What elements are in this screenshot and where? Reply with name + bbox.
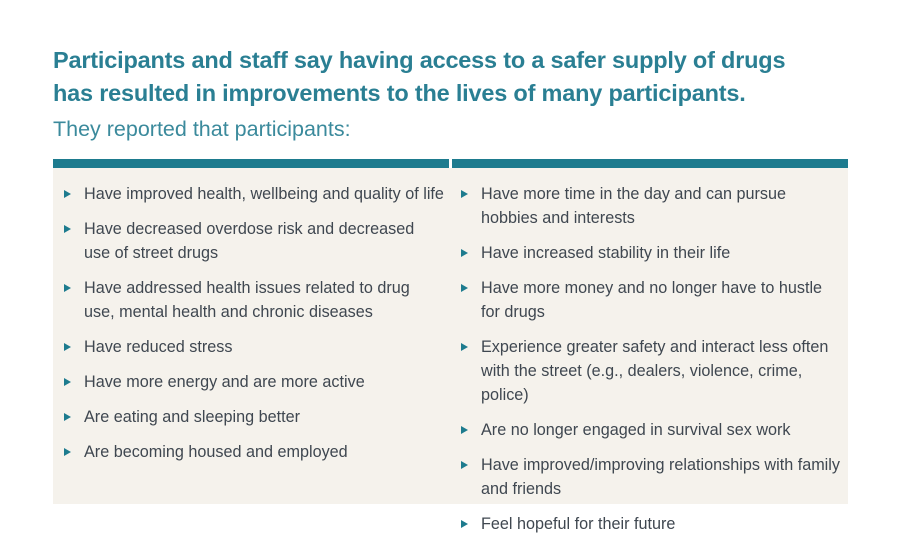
list-item-label: Are becoming housed and employed [84, 443, 348, 461]
triangle-bullet-icon [461, 520, 468, 528]
triangle-bullet-icon [461, 461, 468, 469]
list-item-label: Experience greater safety and interact l… [481, 338, 828, 404]
rule-right-column [452, 159, 848, 168]
list-item-label: Have improved/improving relationships wi… [481, 456, 840, 498]
list-item-label: Feel hopeful for their future [481, 515, 675, 533]
list-item-label: Have addressed health issues related to … [84, 279, 410, 321]
heading-block: Participants and staff say having access… [53, 44, 853, 144]
list-item-label: Are no longer engaged in survival sex wo… [481, 421, 791, 439]
triangle-bullet-icon [461, 190, 468, 198]
list-item: Have improved/improving relationships wi… [461, 453, 842, 501]
triangle-bullet-icon [461, 284, 468, 292]
triangle-bullet-icon [64, 413, 71, 421]
triangle-bullet-icon [64, 225, 71, 233]
right-column: Have more time in the day and can pursue… [452, 168, 848, 504]
column-header-rules [53, 159, 848, 168]
page-title-line-2: has resulted in improvements to the live… [53, 77, 853, 110]
list-item-label: Have increased stability in their life [481, 244, 730, 262]
triangle-bullet-icon [64, 190, 71, 198]
list-item-label: Have more money and no longer have to hu… [481, 279, 822, 321]
triangle-bullet-icon [64, 284, 71, 292]
list-item: Have decreased overdose risk and decreas… [64, 217, 444, 265]
left-column: Have improved health, wellbeing and qual… [53, 168, 452, 504]
list-item: Have more energy and are more active [64, 370, 444, 394]
infographic-root: Participants and staff say having access… [0, 0, 899, 532]
triangle-bullet-icon [461, 249, 468, 257]
list-item: Have more time in the day and can pursue… [461, 182, 842, 230]
triangle-bullet-icon [64, 448, 71, 456]
page-subtitle: They reported that participants: [53, 110, 853, 144]
list-item-label: Have more time in the day and can pursue… [481, 185, 786, 227]
list-item-label: Have reduced stress [84, 338, 232, 356]
left-column-list: Have improved health, wellbeing and qual… [64, 182, 444, 464]
page-title-line-1: Participants and staff say having access… [53, 44, 853, 77]
triangle-bullet-icon [461, 343, 468, 351]
list-item: Have addressed health issues related to … [64, 276, 444, 324]
right-column-list: Have more time in the day and can pursue… [461, 182, 842, 536]
list-item-label: Have more energy and are more active [84, 373, 365, 391]
triangle-bullet-icon [64, 378, 71, 386]
list-item: Are eating and sleeping better [64, 405, 444, 429]
list-item: Have reduced stress [64, 335, 444, 359]
two-column-layout: Have improved health, wellbeing and qual… [53, 168, 848, 504]
list-item: Have increased stability in their life [461, 241, 842, 265]
list-item: Feel hopeful for their future [461, 512, 842, 536]
list-item: Have more money and no longer have to hu… [461, 276, 842, 324]
page-title: Participants and staff say having access… [53, 44, 853, 110]
list-item-label: Have improved health, wellbeing and qual… [84, 185, 444, 203]
list-item: Have improved health, wellbeing and qual… [64, 182, 444, 206]
triangle-bullet-icon [461, 426, 468, 434]
list-item: Experience greater safety and interact l… [461, 335, 842, 407]
list-item-label: Have decreased overdose risk and decreas… [84, 220, 414, 262]
triangle-bullet-icon [64, 343, 71, 351]
list-item: Are becoming housed and employed [64, 440, 444, 464]
rule-left-column [53, 159, 449, 168]
list-item: Are no longer engaged in survival sex wo… [461, 418, 842, 442]
list-item-label: Are eating and sleeping better [84, 408, 300, 426]
